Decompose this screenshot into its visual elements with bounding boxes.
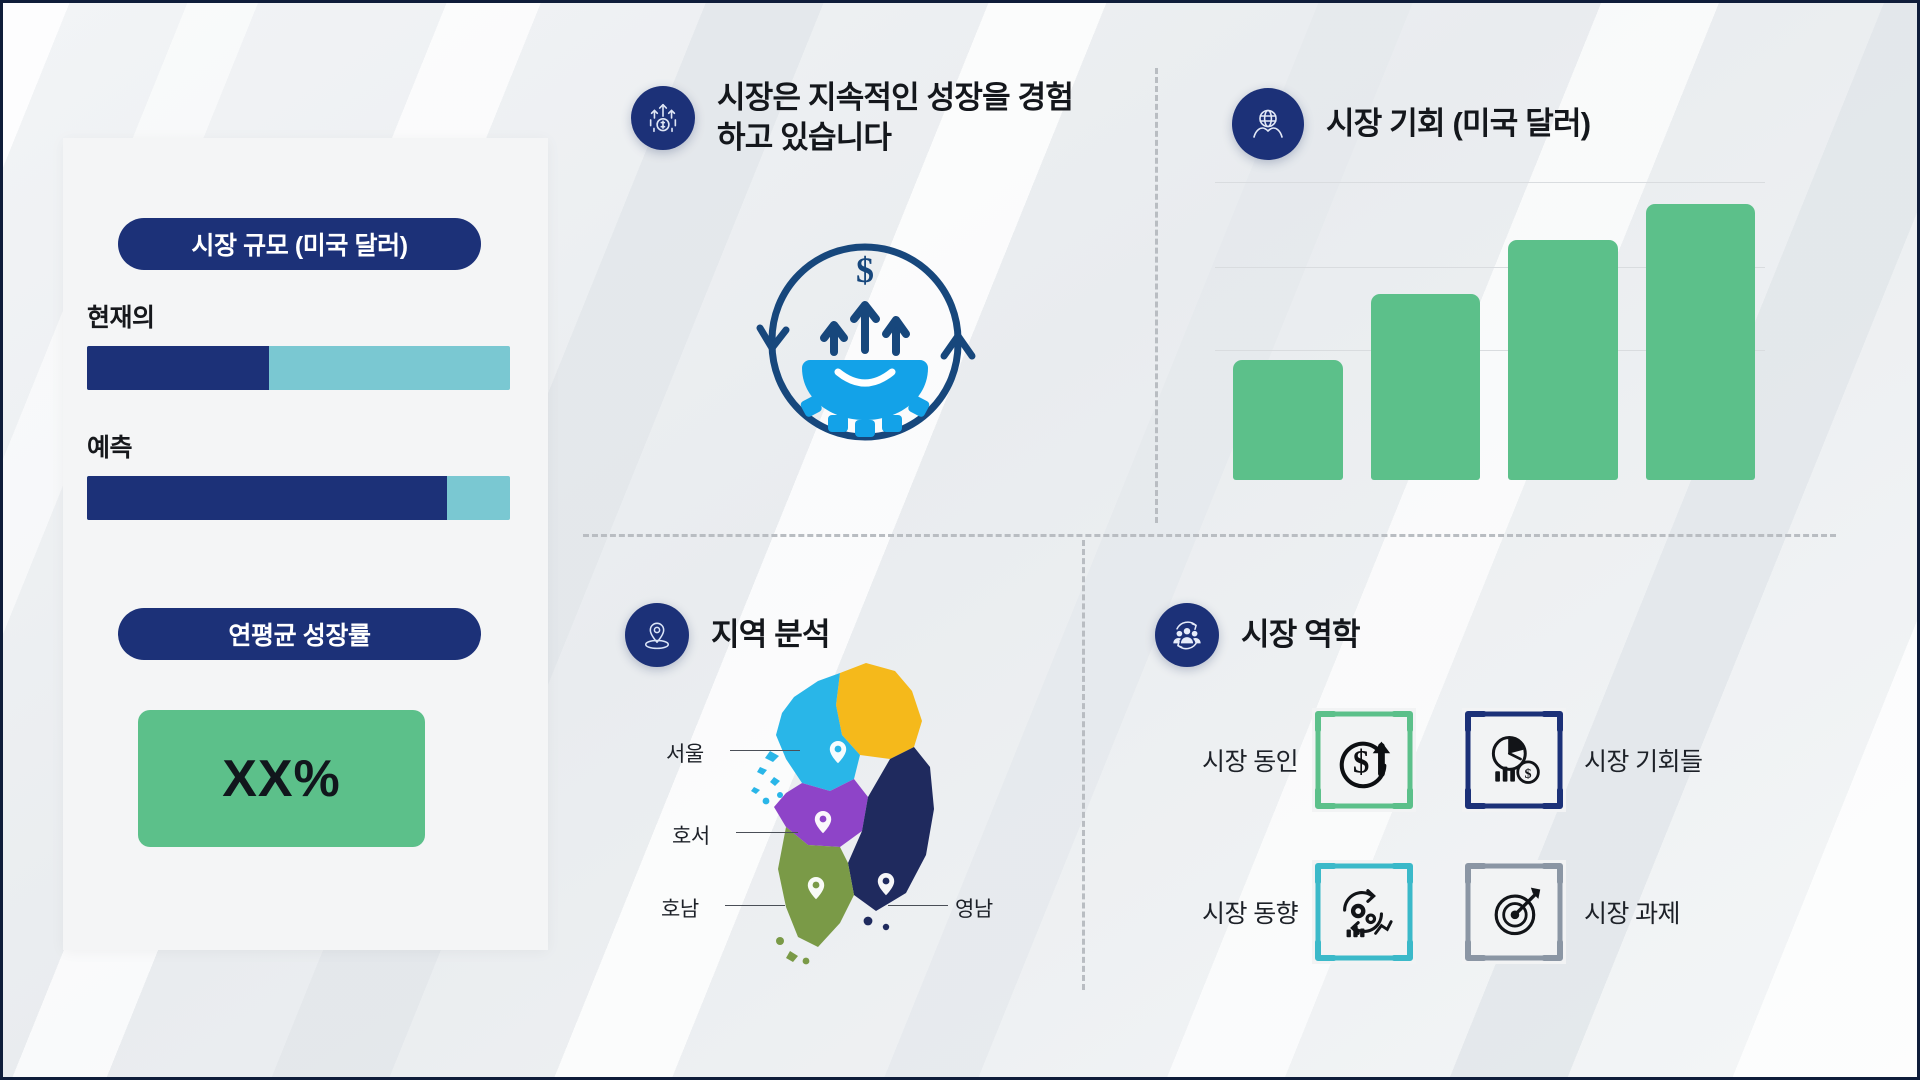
map-leader-hoseo bbox=[736, 832, 798, 833]
dollar-up-arrow-icon: $ bbox=[1312, 708, 1416, 812]
gears-growth-chart-icon bbox=[1312, 860, 1416, 964]
dynamics-item-market-trends[interactable]: 시장 동향 bbox=[1150, 860, 1416, 964]
people-cycle-icon bbox=[1155, 603, 1219, 667]
gear-dollar-arrows-cycle-icon: $ bbox=[730, 222, 1000, 462]
market-dynamics-grid: 시장 동인 $ bbox=[1150, 708, 1822, 978]
bar-label-forecast: 예측 bbox=[87, 428, 132, 464]
growth-section-header: 시장은 지속적인 성장을 경험하고 있습니다 bbox=[631, 78, 1097, 159]
map-label-hoseo: 호서 bbox=[672, 820, 710, 850]
dynamics-row-2: 시장 동향 bbox=[1150, 860, 1680, 964]
regional-title: 지역 분석 bbox=[711, 615, 830, 655]
money-growth-arrows-icon bbox=[631, 86, 695, 150]
dynamics-item-market-opportunities[interactable]: $ 시장 기회들 bbox=[1462, 708, 1702, 812]
dynamics-row-1: 시장 동인 $ bbox=[1150, 708, 1702, 812]
market-opportunity-bar-chart bbox=[1205, 170, 1765, 480]
map-leader-seoul bbox=[730, 750, 800, 751]
opportunity-title: 시장 기회 (미국 달러) bbox=[1326, 104, 1590, 144]
dynamics-item-market-challenges[interactable]: 시장 과제 bbox=[1462, 860, 1680, 964]
market-size-pill-label: 시장 규모 (미국 달러) bbox=[118, 218, 481, 270]
map-label-yeongnam: 영남 bbox=[955, 893, 993, 923]
svg-text:$: $ bbox=[856, 250, 874, 290]
cagr-value-box: XX% bbox=[138, 710, 425, 847]
bar-1 bbox=[1233, 360, 1343, 480]
divider-vertical-top bbox=[1155, 68, 1158, 523]
bar-fill-forecast bbox=[87, 476, 447, 520]
divider-horizontal bbox=[583, 534, 1836, 537]
map-label-seoul: 서울 bbox=[666, 738, 704, 768]
dynamics-label-market-trends: 시장 동향 bbox=[1150, 894, 1298, 930]
map-label-honam: 호남 bbox=[661, 893, 699, 923]
dynamics-item-market-drivers[interactable]: 시장 동인 $ bbox=[1150, 708, 1416, 812]
chart-bars bbox=[1233, 180, 1755, 480]
bar-fill-current bbox=[87, 346, 269, 390]
cagr-pill-label: 연평균 성장률 bbox=[118, 608, 481, 660]
target-dart-icon bbox=[1462, 860, 1566, 964]
bar-track-current bbox=[87, 346, 510, 390]
market-size-card: 시장 규모 (미국 달러) 현재의 예측 연평균 성장률 XX% bbox=[63, 138, 548, 950]
dynamics-label-market-opportunities: 시장 기회들 bbox=[1584, 742, 1702, 778]
map-pin-icon bbox=[625, 603, 689, 667]
dynamics-title: 시장 역학 bbox=[1241, 615, 1360, 655]
bar-3 bbox=[1508, 240, 1618, 480]
dynamics-section-header: 시장 역학 bbox=[1155, 603, 1360, 667]
globe-in-hands-icon bbox=[1232, 88, 1304, 160]
divider-vertical-bottom bbox=[1082, 540, 1085, 990]
bar-label-current: 현재의 bbox=[87, 298, 155, 334]
growth-title: 시장은 지속적인 성장을 경험하고 있습니다 bbox=[717, 78, 1097, 159]
dynamics-label-market-drivers: 시장 동인 bbox=[1150, 742, 1298, 778]
bar-4 bbox=[1646, 204, 1756, 480]
opportunity-section-header: 시장 기회 (미국 달러) bbox=[1232, 88, 1590, 160]
map-leader-honam bbox=[725, 905, 785, 906]
dynamics-label-market-challenges: 시장 과제 bbox=[1584, 894, 1680, 930]
cagr-value: XX% bbox=[222, 749, 341, 809]
bar-2 bbox=[1371, 294, 1481, 480]
bar-track-forecast bbox=[87, 476, 510, 520]
map-leader-yeongnam bbox=[888, 905, 948, 906]
pie-chart-clock-icon: $ bbox=[1462, 708, 1566, 812]
korea-map bbox=[690, 655, 990, 985]
